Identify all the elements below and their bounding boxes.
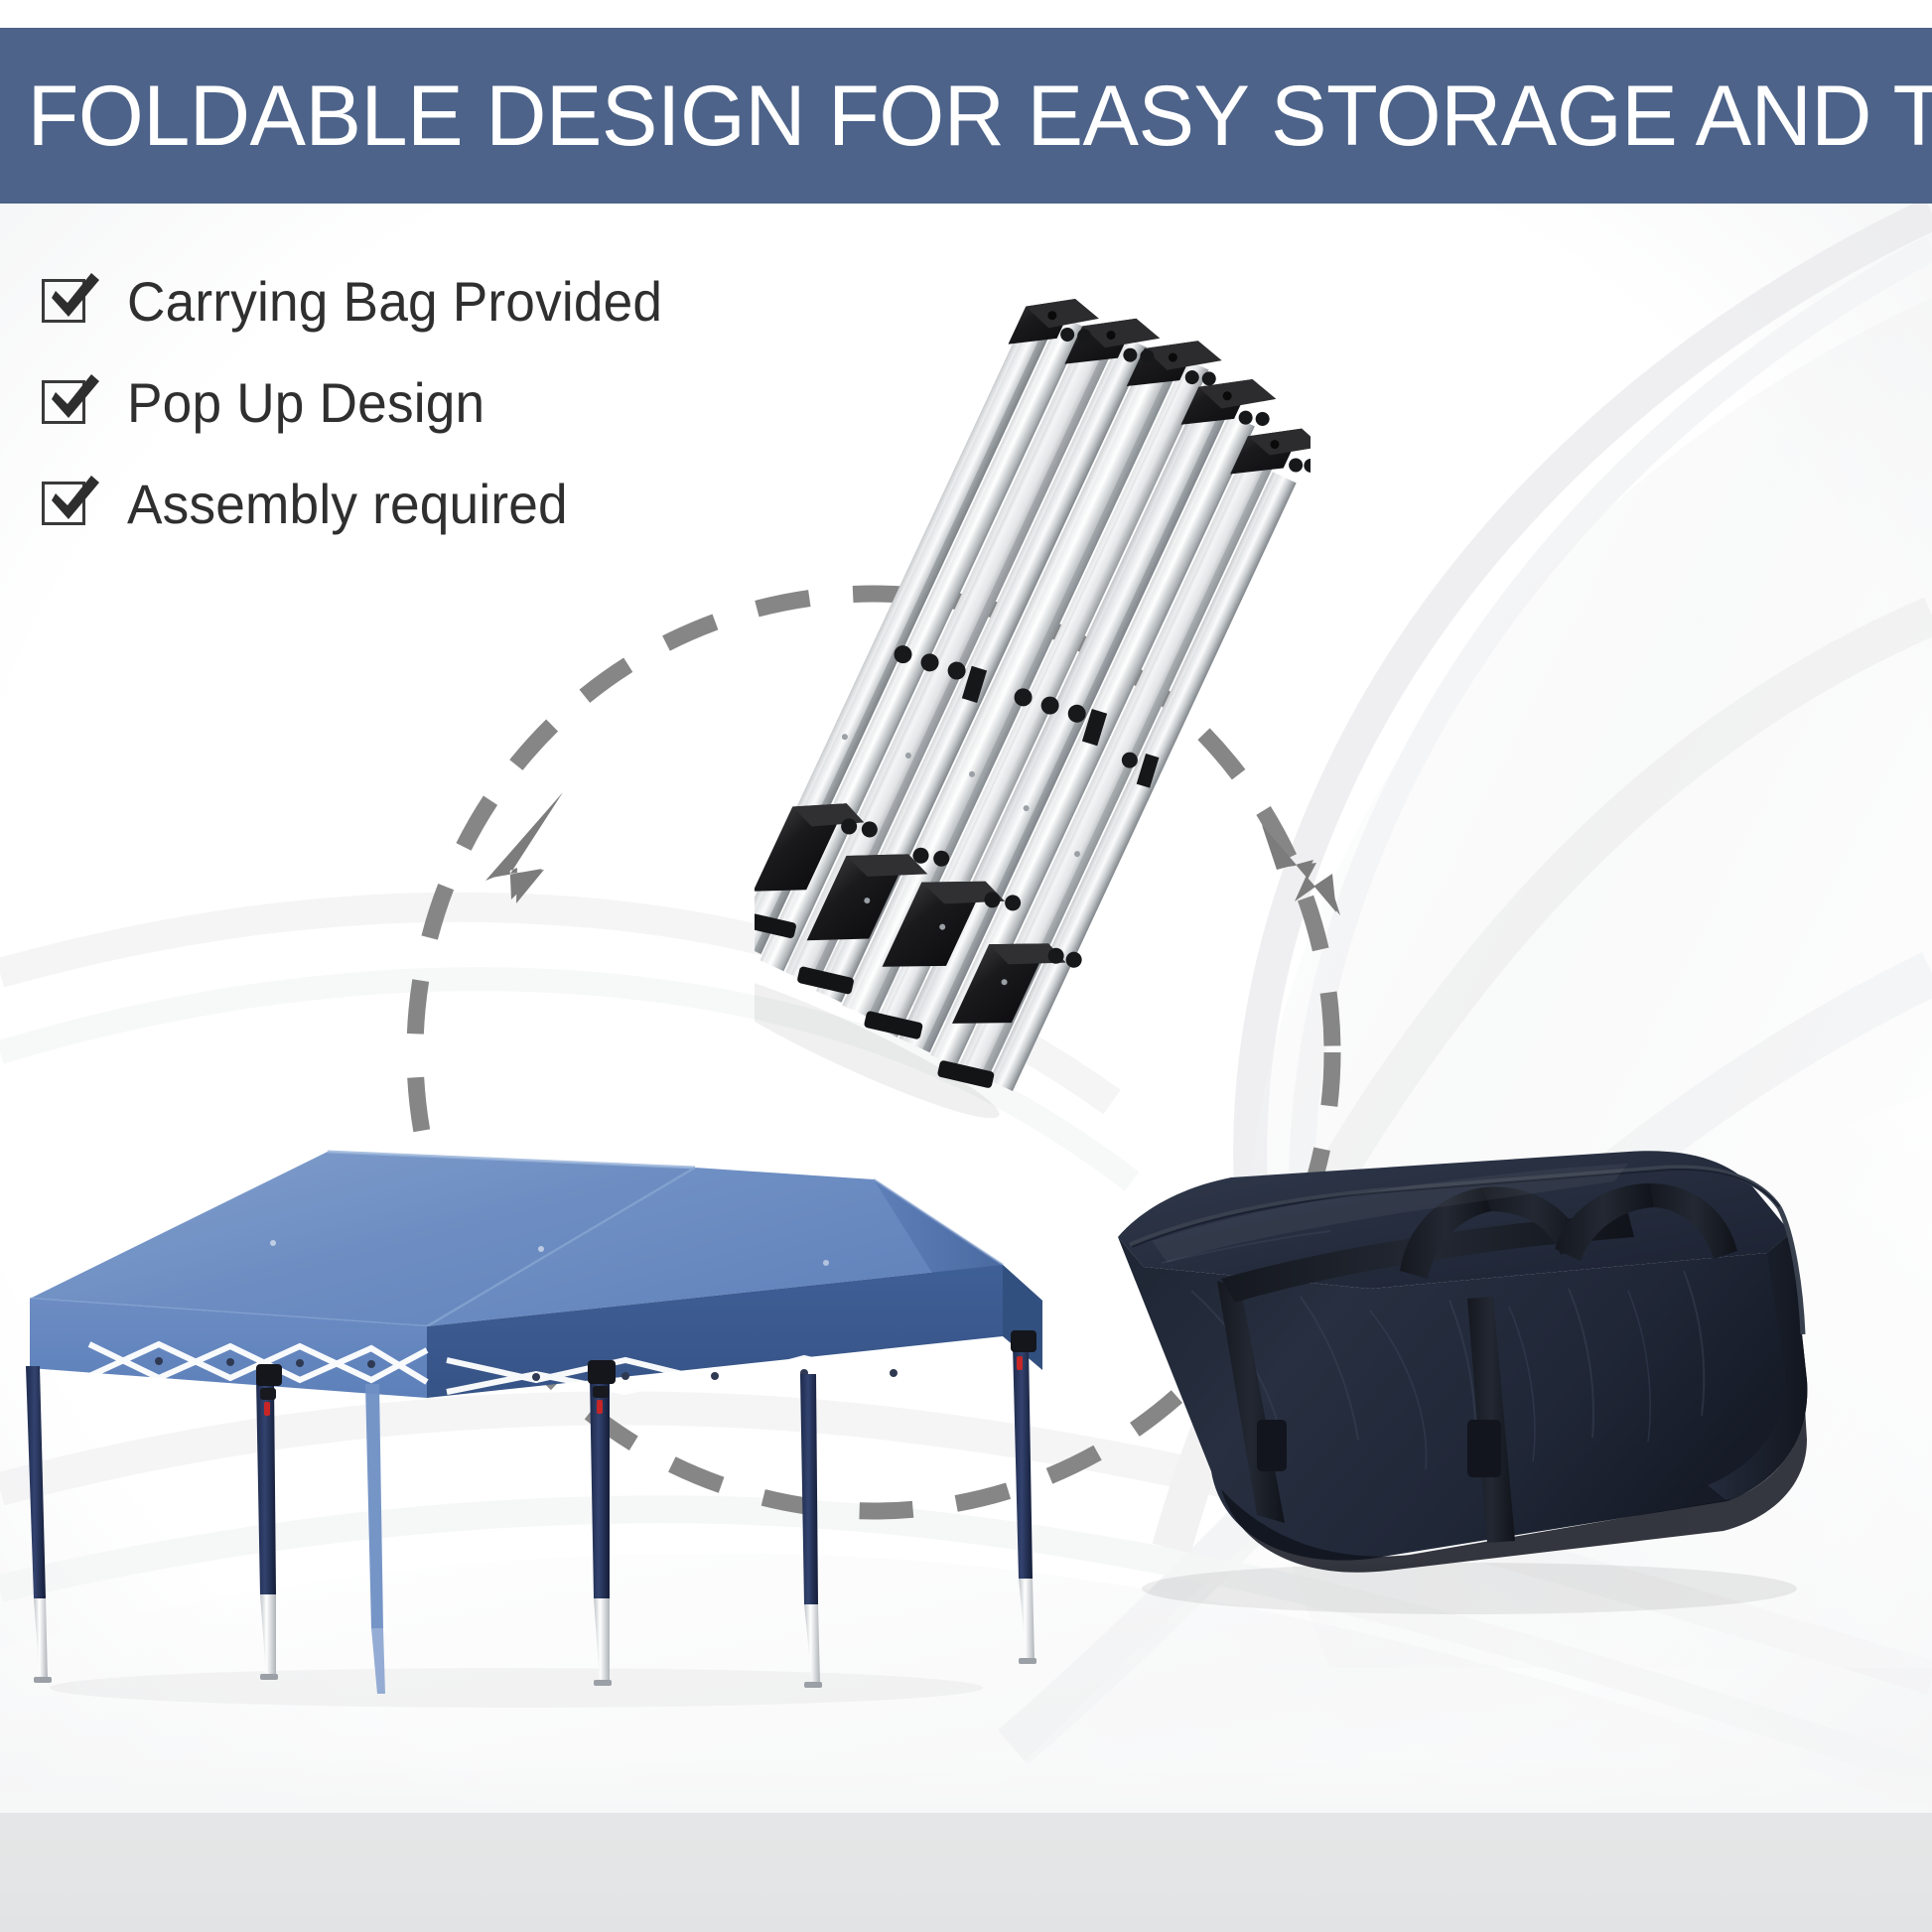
canopy-leg xyxy=(588,1360,616,1686)
banner-title: FOLDABLE DESIGN FOR EASY STORAGE AND TRA… xyxy=(0,73,1932,159)
feature-item-pop-up-design: Pop Up Design xyxy=(42,351,856,453)
feature-list: Carrying Bag Provided Pop Up Design Asse… xyxy=(42,250,856,554)
carrying-bag-graphic xyxy=(1072,1122,1866,1638)
infographic-canvas: FOLDABLE DESIGN FOR EASY STORAGE AND TRA… xyxy=(0,0,1932,1932)
bottom-band xyxy=(0,1813,1932,1932)
feature-label: Assembly required xyxy=(127,472,568,536)
checkmark-icon xyxy=(42,265,107,331)
product-folded-frame xyxy=(755,298,1311,1132)
checked-checkbox-icon xyxy=(42,279,85,323)
product-carrying-bag xyxy=(1072,1122,1866,1638)
canopy-leg xyxy=(26,1366,52,1683)
canopy-graphic xyxy=(0,1132,1072,1727)
canopy-leg xyxy=(365,1384,385,1694)
checked-checkbox-icon xyxy=(42,482,85,525)
checkmark-icon xyxy=(42,366,107,432)
checked-checkbox-icon xyxy=(42,380,85,424)
checkmark-icon xyxy=(42,468,107,533)
canopy-leg xyxy=(256,1364,282,1680)
feature-item-carrying-bag: Carrying Bag Provided xyxy=(42,250,856,351)
feature-label: Carrying Bag Provided xyxy=(127,269,662,334)
product-canopy-gazebo xyxy=(0,1132,1072,1727)
canopy-leg xyxy=(1011,1330,1036,1664)
cycle-arrowhead-left xyxy=(485,792,563,903)
bag-strap-junction xyxy=(1257,1420,1287,1471)
header-banner: FOLDABLE DESIGN FOR EASY STORAGE AND TRA… xyxy=(0,28,1932,204)
folded-frame-graphic xyxy=(755,298,1311,1132)
feature-item-assembly-required: Assembly required xyxy=(42,453,856,554)
bag-strap-junction xyxy=(1467,1420,1501,1477)
feature-label: Pop Up Design xyxy=(127,370,484,435)
canopy-leg xyxy=(800,1374,822,1688)
bottom-band-fade xyxy=(0,1757,1932,1815)
